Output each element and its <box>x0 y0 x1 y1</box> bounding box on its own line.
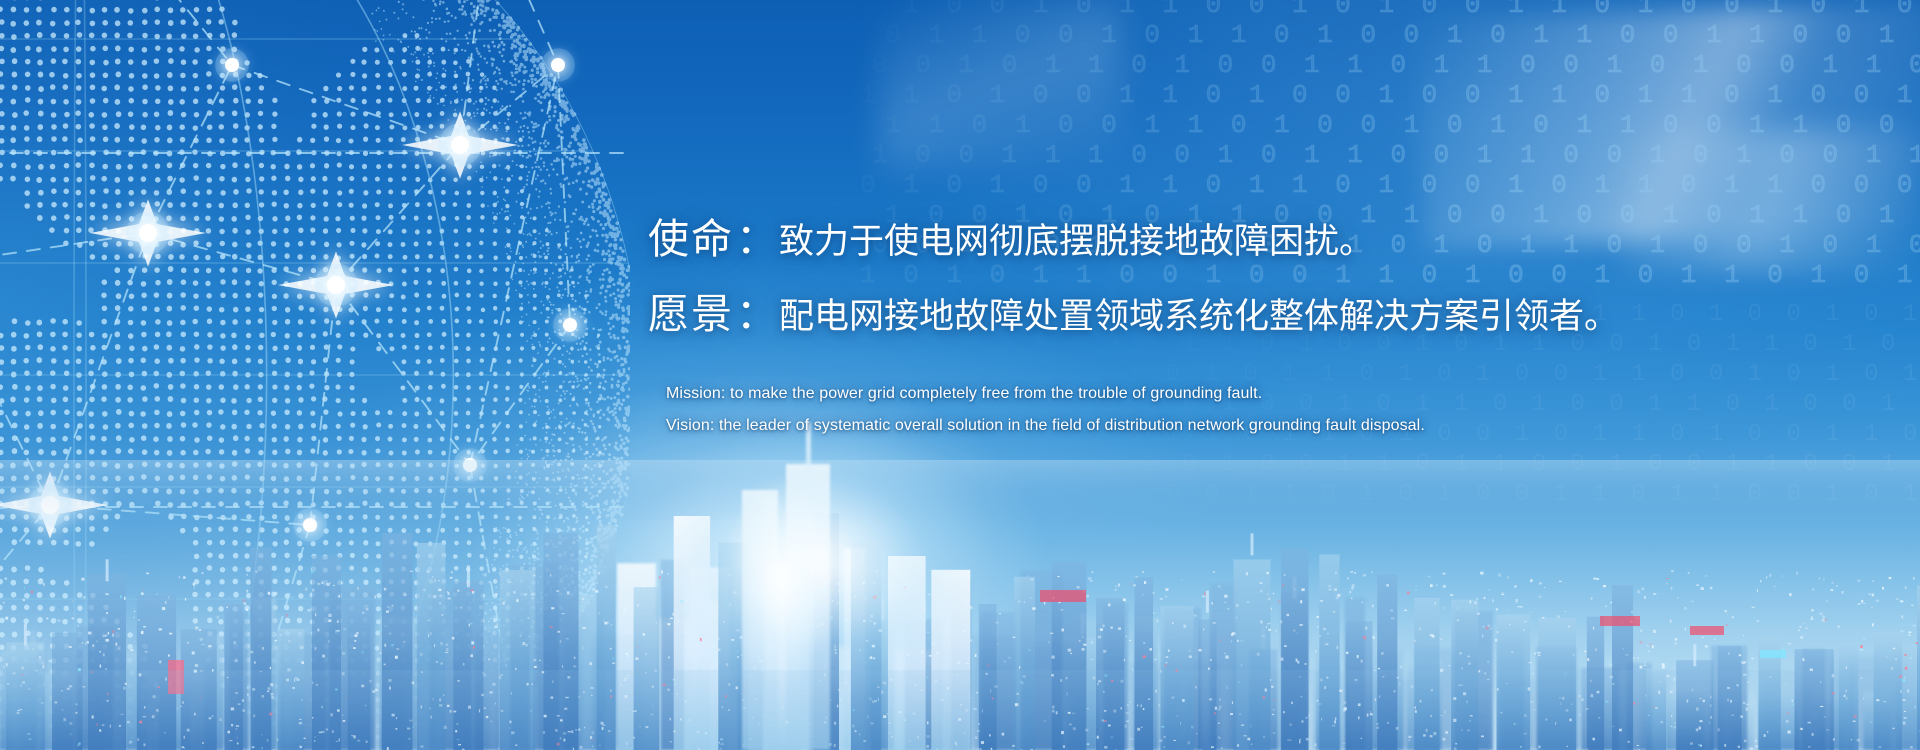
building <box>1627 663 1652 750</box>
window-light <box>941 699 944 702</box>
building <box>1281 592 1308 750</box>
window-light <box>1482 626 1484 628</box>
window-light <box>1300 600 1302 603</box>
window-light <box>659 576 661 579</box>
window-light <box>1143 571 1144 573</box>
window-light <box>1090 580 1093 581</box>
window-light <box>1189 650 1191 652</box>
window-light <box>1301 696 1303 697</box>
window-light <box>1287 614 1290 616</box>
building <box>1164 608 1201 750</box>
window-light <box>1382 676 1384 678</box>
neon-sign <box>1040 590 1086 602</box>
window-light <box>717 649 720 651</box>
window-light <box>1593 627 1594 630</box>
window-light <box>1900 630 1903 631</box>
window-light <box>904 582 907 585</box>
window-light <box>1637 590 1640 593</box>
window-light <box>845 619 848 622</box>
window-light <box>1544 587 1546 588</box>
window-light <box>1347 577 1349 579</box>
building <box>862 620 886 750</box>
window-light <box>1573 654 1575 656</box>
window-light <box>712 645 715 647</box>
window-light <box>1247 738 1250 741</box>
window-light <box>1579 695 1581 697</box>
star-node-icon <box>293 508 327 542</box>
building <box>1676 698 1723 750</box>
window-light <box>743 707 745 709</box>
window-light <box>1482 634 1483 637</box>
window-light <box>686 590 688 592</box>
window-light <box>1031 579 1034 580</box>
window-light <box>1645 695 1646 697</box>
building <box>1229 642 1264 750</box>
window-light <box>1126 721 1129 722</box>
window-light <box>1015 703 1018 706</box>
window-light <box>1638 617 1639 620</box>
window-light <box>1466 700 1468 703</box>
building <box>851 541 881 750</box>
window-light <box>1115 589 1117 591</box>
window-light <box>1087 743 1090 745</box>
window-light <box>1143 708 1145 710</box>
window-light <box>826 717 828 719</box>
window-light <box>1115 586 1117 587</box>
building <box>824 647 859 750</box>
window-light <box>1879 746 1882 748</box>
window-light <box>1746 708 1749 711</box>
building-spire <box>993 617 996 639</box>
window-light <box>1833 738 1835 740</box>
window-light <box>1420 700 1422 703</box>
window-light <box>1297 661 1299 664</box>
window-light <box>1032 607 1035 610</box>
window-light <box>1262 635 1265 636</box>
window-light <box>1893 648 1895 649</box>
window-light <box>1198 649 1201 651</box>
window-light <box>1098 636 1101 639</box>
window-light <box>1837 626 1840 628</box>
window-light <box>1500 712 1502 714</box>
window-light <box>761 744 762 745</box>
window-light <box>1317 626 1319 627</box>
building-spire <box>922 600 925 622</box>
window-light <box>969 697 972 698</box>
window-light <box>1658 691 1660 694</box>
window-light <box>786 651 789 654</box>
window-light <box>874 700 877 702</box>
window-light <box>1083 591 1085 593</box>
window-light <box>1524 733 1527 735</box>
building <box>1372 641 1404 750</box>
window-light <box>1343 701 1346 704</box>
window-light <box>1148 699 1150 700</box>
window-light <box>1741 661 1744 663</box>
window-light <box>1698 744 1701 746</box>
subtitle-vision-en: Vision: the leader of systematic overall… <box>666 410 1878 442</box>
window-light <box>1662 663 1665 665</box>
window-light <box>1443 573 1446 575</box>
node-dot <box>451 136 469 154</box>
window-light <box>1063 746 1065 748</box>
window-light <box>1755 740 1757 742</box>
window-light <box>1445 731 1448 733</box>
window-light <box>866 640 869 641</box>
window-light <box>1296 659 1298 662</box>
window-light <box>672 613 674 616</box>
window-light <box>963 630 966 633</box>
window-light <box>1361 660 1363 663</box>
window-light <box>965 709 968 712</box>
building <box>1135 618 1158 750</box>
window-light <box>1497 688 1499 690</box>
building <box>1268 667 1301 750</box>
window-light <box>1853 721 1856 722</box>
window-light <box>1710 696 1711 699</box>
building <box>1014 577 1035 750</box>
window-light <box>847 698 849 700</box>
window-light <box>1013 637 1016 638</box>
window-light <box>863 740 866 742</box>
window-light <box>1230 713 1233 715</box>
window-light <box>1127 704 1129 706</box>
window-light <box>771 610 772 613</box>
window-light <box>870 656 872 659</box>
window-light <box>947 687 949 690</box>
window-light <box>1441 639 1442 641</box>
window-light <box>1593 578 1596 580</box>
window-light <box>1015 705 1018 707</box>
building <box>1666 693 1704 750</box>
window-light <box>922 615 924 617</box>
window-light <box>1416 585 1418 586</box>
window-light <box>1246 572 1248 575</box>
window-light <box>1441 715 1443 716</box>
window-light <box>921 690 923 691</box>
building <box>1646 669 1666 750</box>
window-light <box>1050 633 1053 635</box>
window-light <box>777 630 780 632</box>
window-light <box>1182 699 1184 702</box>
window-light <box>1907 689 1909 692</box>
window-light <box>1141 705 1142 708</box>
window-light <box>1344 707 1347 710</box>
window-light <box>737 656 739 658</box>
window-light <box>1414 640 1415 642</box>
window-light <box>1537 652 1540 654</box>
window-light <box>1902 699 1905 701</box>
window-light <box>1346 652 1349 654</box>
window-light <box>1104 674 1107 677</box>
window-light <box>1415 589 1417 590</box>
window-light <box>1227 608 1229 610</box>
window-light <box>1297 633 1298 634</box>
window-light <box>1265 690 1266 692</box>
window-light <box>748 621 751 622</box>
window-light <box>1533 709 1536 710</box>
window-light <box>1742 663 1745 664</box>
window-light <box>680 718 682 721</box>
window-light <box>1100 628 1103 631</box>
building-spire <box>1081 613 1084 635</box>
window-light <box>714 722 715 724</box>
window-light <box>1781 576 1783 577</box>
window-light <box>1351 598 1353 600</box>
window-light <box>835 649 837 651</box>
window-light <box>1770 574 1772 577</box>
window-light <box>1352 584 1355 587</box>
window-light <box>1670 620 1672 623</box>
window-light <box>1397 677 1399 678</box>
window-light <box>1326 677 1328 679</box>
window-light <box>1453 697 1456 700</box>
window-light <box>1824 619 1826 620</box>
window-light <box>1144 581 1146 584</box>
window-light <box>1306 738 1309 741</box>
window-light <box>949 640 951 641</box>
window-light <box>1883 701 1886 702</box>
window-light <box>964 733 966 735</box>
star-node-icon <box>553 308 587 342</box>
building <box>1830 646 1854 750</box>
building <box>1454 611 1493 750</box>
window-light <box>1823 578 1825 580</box>
window-light <box>1661 721 1664 723</box>
window-light <box>1688 572 1690 573</box>
window-light <box>1904 654 1907 656</box>
window-light <box>1294 589 1295 590</box>
window-light <box>1317 616 1319 618</box>
building <box>1612 585 1633 750</box>
window-light <box>891 736 892 737</box>
window-light <box>1886 656 1887 657</box>
window-light <box>652 686 653 689</box>
window-light <box>989 734 991 736</box>
window-light <box>1111 737 1114 738</box>
window-light <box>763 582 765 585</box>
window-light <box>837 705 838 708</box>
window-light <box>1808 722 1811 724</box>
window-light <box>1299 741 1300 744</box>
building <box>1874 632 1903 750</box>
window-light <box>1896 598 1899 600</box>
building <box>1581 668 1618 750</box>
window-light <box>1653 706 1655 707</box>
building-spire <box>1830 678 1833 700</box>
window-light <box>897 654 899 656</box>
window-light <box>968 606 970 607</box>
window-light <box>1717 728 1720 731</box>
window-light <box>1435 584 1438 586</box>
building <box>655 619 698 750</box>
window-light <box>977 730 980 732</box>
headline-mission-lead: 使命 <box>648 216 734 262</box>
building <box>1020 570 1062 750</box>
window-light <box>1728 652 1730 654</box>
window-light <box>1129 640 1131 641</box>
window-light <box>1636 616 1638 619</box>
window-light <box>1709 722 1710 724</box>
window-light <box>1853 715 1856 717</box>
window-light <box>1658 681 1661 682</box>
window-light <box>668 657 670 659</box>
window-light <box>1118 584 1120 587</box>
window-light <box>1415 710 1417 713</box>
window-light <box>752 656 753 658</box>
building <box>1319 554 1339 750</box>
window-light <box>689 631 691 633</box>
window-light <box>1404 610 1407 611</box>
window-light <box>1844 695 1846 697</box>
window-light <box>927 632 928 633</box>
window-light <box>782 706 784 708</box>
window-light <box>1571 704 1572 705</box>
window-light <box>1637 745 1640 746</box>
window-light <box>1440 669 1443 672</box>
window-light <box>1453 719 1456 722</box>
window-light <box>1378 668 1380 669</box>
window-light <box>635 710 637 711</box>
window-light <box>1386 584 1389 586</box>
window-light <box>1671 715 1672 717</box>
window-light <box>921 661 923 662</box>
window-light <box>874 582 876 584</box>
window-light <box>1910 746 1913 748</box>
window-light <box>1260 620 1263 623</box>
window-light <box>1653 630 1656 633</box>
building <box>1730 707 1756 750</box>
window-light <box>1409 740 1411 742</box>
building <box>743 627 765 750</box>
window-light <box>1091 659 1094 660</box>
window-light <box>1743 674 1746 676</box>
window-light <box>1744 740 1746 743</box>
window-light <box>1168 650 1170 652</box>
window-light <box>869 657 872 658</box>
window-light <box>1079 640 1081 641</box>
window-light <box>1068 712 1071 714</box>
window-light <box>689 719 691 721</box>
window-light <box>752 716 755 719</box>
window-light <box>1622 621 1624 623</box>
window-light <box>1408 736 1411 738</box>
window-light <box>1701 587 1704 590</box>
window-light <box>728 709 729 711</box>
window-light <box>702 606 704 608</box>
window-light <box>763 624 765 627</box>
window-light <box>1111 680 1113 682</box>
window-light <box>772 618 774 620</box>
window-light <box>1120 680 1123 683</box>
window-light <box>667 573 669 575</box>
window-light <box>1270 679 1271 681</box>
window-light <box>1077 586 1080 588</box>
building <box>1313 670 1352 750</box>
window-light <box>1746 704 1748 705</box>
window-light <box>874 622 876 624</box>
window-light <box>1354 572 1356 574</box>
window-light <box>976 692 977 694</box>
window-light <box>1613 726 1614 727</box>
window-light <box>1736 684 1738 686</box>
window-light <box>1172 697 1175 699</box>
window-light <box>753 667 756 670</box>
node-dot <box>551 58 565 72</box>
window-light <box>797 572 799 574</box>
window-light <box>789 577 791 580</box>
window-light <box>1625 654 1628 655</box>
window-light <box>1870 721 1872 723</box>
window-light <box>1118 628 1121 630</box>
window-light <box>670 741 672 742</box>
light-burst-icon <box>680 430 880 730</box>
window-light <box>789 709 792 712</box>
building <box>1096 598 1124 750</box>
window-light <box>1126 712 1129 714</box>
window-light <box>834 744 836 747</box>
window-light <box>733 591 736 593</box>
building <box>1462 681 1491 750</box>
window-light <box>1160 598 1163 600</box>
window-light <box>1638 657 1640 659</box>
window-light <box>1414 707 1416 709</box>
window-light <box>1324 686 1326 689</box>
window-light <box>927 594 930 595</box>
building <box>1184 661 1220 750</box>
window-light <box>1219 706 1222 709</box>
window-light <box>1831 589 1834 591</box>
window-light <box>1514 723 1516 725</box>
window-light <box>864 598 867 599</box>
window-light <box>1710 704 1711 707</box>
window-light <box>933 681 936 682</box>
window-light <box>1485 672 1486 674</box>
window-light <box>1435 602 1436 604</box>
window-light <box>1916 642 1918 644</box>
binary-row: 0 1 0 0 1 0 1 1 0 0 1 0 1 0 0 1 1 0 1 0 … <box>860 0 1920 20</box>
window-light <box>1872 624 1874 627</box>
window-light <box>1633 657 1636 658</box>
window-light <box>1291 702 1292 705</box>
window-light <box>1520 606 1522 608</box>
window-light <box>1908 634 1911 635</box>
window-light <box>1180 722 1181 725</box>
window-light <box>1478 670 1480 672</box>
window-light <box>637 604 638 607</box>
window-light <box>1605 606 1606 608</box>
window-light <box>1690 742 1693 744</box>
window-light <box>1160 670 1161 673</box>
window-light <box>1335 717 1336 720</box>
window-light <box>1082 648 1085 650</box>
window-light <box>1448 665 1450 666</box>
window-light <box>1603 585 1606 587</box>
globe-network-icon <box>0 0 630 750</box>
window-light <box>1334 720 1336 723</box>
window-light <box>1705 645 1708 647</box>
window-light <box>1832 693 1835 695</box>
window-light <box>1367 714 1369 717</box>
window-light <box>852 725 855 728</box>
window-light <box>783 582 785 585</box>
window-light <box>1498 574 1501 577</box>
window-light <box>1098 680 1101 682</box>
window-light <box>1394 690 1396 692</box>
window-light <box>1811 610 1814 612</box>
window-light <box>736 687 738 690</box>
window-light <box>1051 674 1054 676</box>
